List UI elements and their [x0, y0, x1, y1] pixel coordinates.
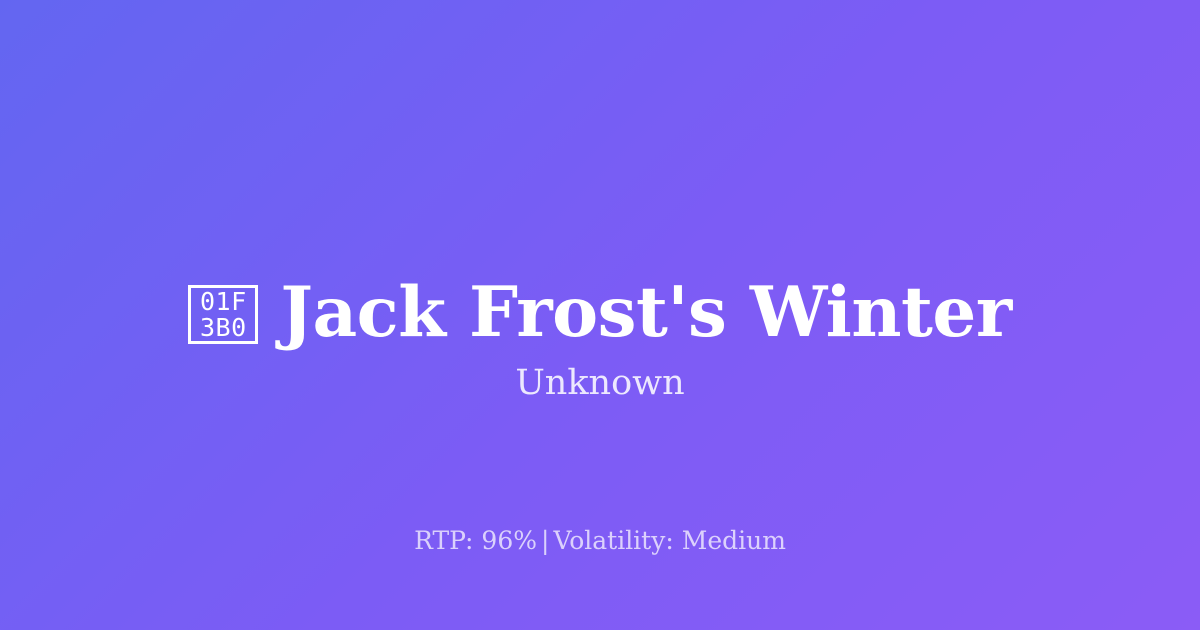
slot-machine-icon: 01F 3B0	[188, 285, 258, 344]
tofu-codepoint-top: 01F	[200, 289, 247, 315]
tofu-codepoint-bottom: 3B0	[200, 315, 247, 341]
game-promo-card: 01F 3B0 Jack Frost's Winter Unknown RTP:…	[0, 0, 1200, 630]
rtp-value: RTP: 96%	[414, 526, 537, 555]
stats-separator: |	[537, 526, 553, 555]
volatility-value: Volatility: Medium	[553, 526, 785, 555]
provider-label: Unknown	[0, 364, 1200, 403]
page-title: Jack Frost's Winter	[280, 278, 1011, 347]
game-stats-line: RTP: 96%|Volatility: Medium	[0, 527, 1200, 555]
